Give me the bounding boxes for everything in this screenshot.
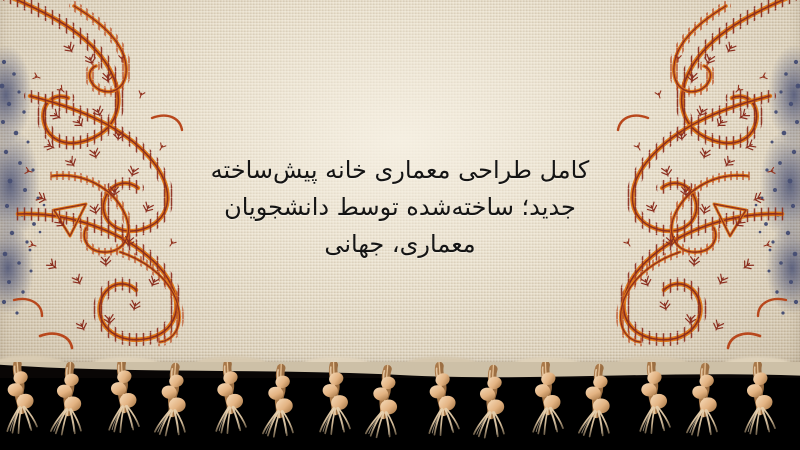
caption-line-2: جدید؛ ساخته‌شده توسط دانشجویان bbox=[165, 189, 635, 226]
caption-line-1: کامل طراحی معماری خانه پیش‌ساخته bbox=[165, 152, 635, 189]
slide-caption: کامل طراحی معماری خانه پیش‌ساخته جدید؛ س… bbox=[165, 152, 635, 263]
caption-line-3: معماری، جهانی bbox=[165, 226, 635, 263]
slide-canvas: کامل طراحی معماری خانه پیش‌ساخته جدید؛ س… bbox=[0, 0, 800, 450]
fabric-bottom-hem bbox=[0, 352, 800, 382]
